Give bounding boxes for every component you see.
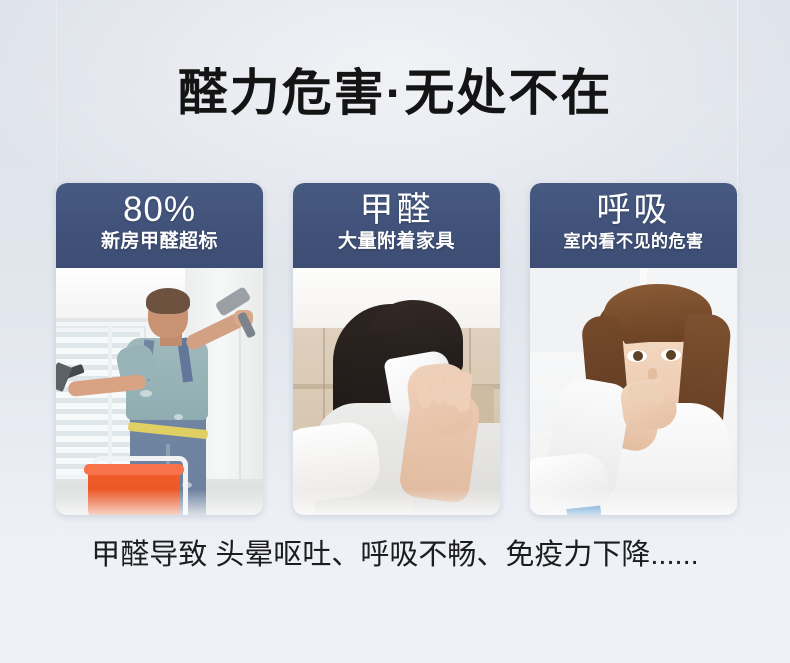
- card-3-photo: [530, 268, 737, 515]
- woman-with-tissue-icon: [293, 268, 500, 515]
- coughing-child-icon: [530, 268, 737, 515]
- page-title: 醛力危害·无处不在: [0, 62, 790, 124]
- info-card-2[interactable]: 甲醛 大量附着家具: [293, 183, 500, 515]
- card-1-subhead: 新房甲醛超标: [56, 230, 263, 254]
- card-1-photo: [56, 268, 263, 515]
- card-1-header: 80% 新房甲醛超标: [56, 183, 263, 268]
- bottom-caption: 甲醛导致 头晕呕吐、呼吸不畅、免疫力下降......: [0, 535, 790, 575]
- card-2-subhead: 大量附着家具: [293, 230, 500, 254]
- card-3-headline: 呼吸: [530, 189, 737, 231]
- card-2-header: 甲醛 大量附着家具: [293, 183, 500, 268]
- card-3-subhead: 室内看不见的危害: [530, 230, 737, 254]
- painter-on-ladder-icon: [56, 268, 263, 515]
- card-1-headline: 80%: [56, 189, 263, 231]
- card-list: 80% 新房甲醛超标: [56, 183, 737, 515]
- info-card-3[interactable]: 呼吸 室内看不见的危害: [530, 183, 737, 515]
- info-card-1[interactable]: 80% 新房甲醛超标: [56, 183, 263, 515]
- card-2-headline: 甲醛: [293, 189, 500, 231]
- card-3-header: 呼吸 室内看不见的危害: [530, 183, 737, 268]
- card-2-photo: [293, 268, 500, 515]
- poster-root: 醛力危害·无处不在 80% 新房甲醛超标: [0, 0, 790, 663]
